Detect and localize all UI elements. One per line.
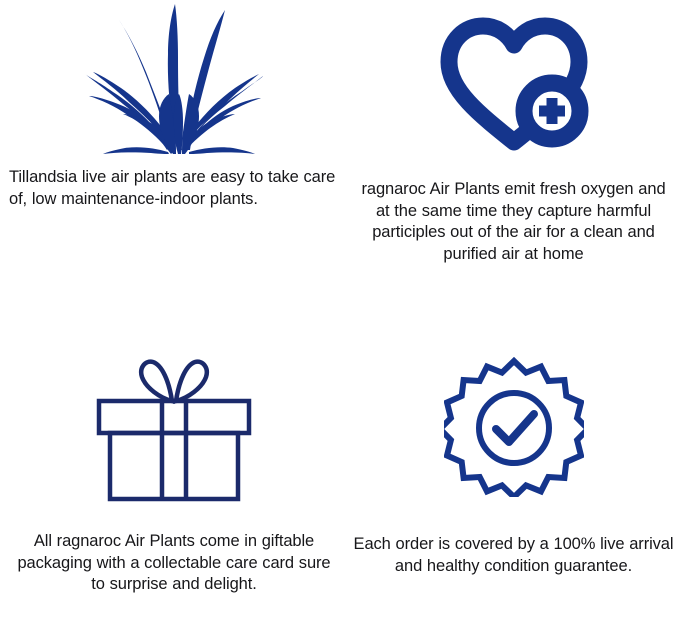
heart-plus-icon: [348, 0, 679, 174]
feature-caption-giftable-packaging: All ragnaroc Air Plants come in giftable…: [9, 531, 339, 596]
feature-caption-air-purifying: ragnaroc Air Plants emit fresh oxygen an…: [353, 179, 675, 265]
feature-card-live-arrival-guarantee: Each order is covered by a 100% live arr…: [348, 309, 679, 617]
feature-caption-live-arrival-guarantee: Each order is covered by a 100% live arr…: [352, 534, 676, 577]
feature-card-giftable-packaging: All ragnaroc Air Plants come in giftable…: [0, 309, 348, 617]
feature-card-air-purifying: ragnaroc Air Plants emit fresh oxygen an…: [348, 0, 679, 309]
feature-caption-easy-care: Tillandsia live air plants are easy to t…: [9, 167, 345, 210]
air-plant-icon: [0, 0, 348, 162]
gift-box-icon: [0, 309, 348, 529]
verified-badge-icon: [348, 309, 679, 532]
feature-grid: Tillandsia live air plants are easy to t…: [0, 0, 679, 617]
feature-card-easy-care: Tillandsia live air plants are easy to t…: [0, 0, 348, 309]
